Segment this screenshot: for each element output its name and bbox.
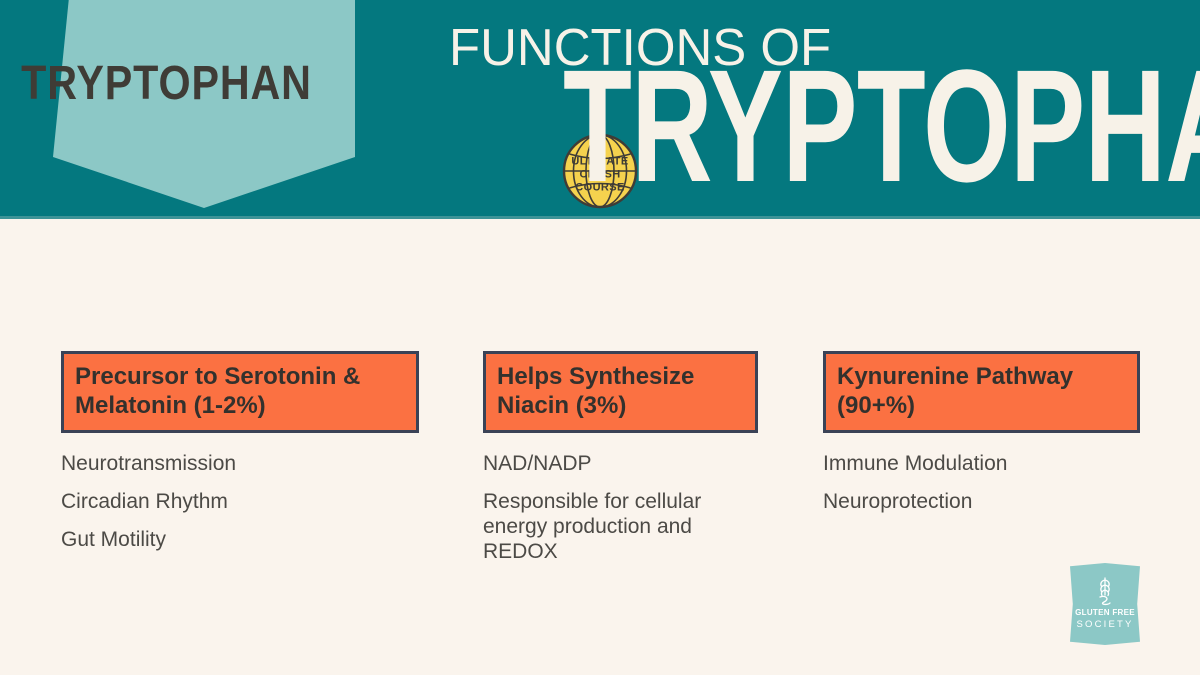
column-precursor-serotonin-melatonin: Precursor to Serotonin & Melatonin (1-2%…	[61, 351, 419, 565]
page-title: TRYPTOPHAN	[563, 46, 1200, 206]
list-item: Circadian Rhythm	[61, 489, 419, 514]
column-heading-chip: Kynurenine Pathway (90+%)	[823, 351, 1140, 433]
badge-title: TRYPTOPHAN	[21, 56, 281, 111]
column-bullet-list: Neurotransmission Circadian Rhythm Gut M…	[61, 451, 419, 552]
column-bullet-list: NAD/NADP Responsible for cellular energy…	[483, 451, 758, 564]
list-item: NAD/NADP	[483, 451, 758, 476]
gluten-free-society-logo: GLUTEN FREE SOCIETY	[1070, 563, 1140, 645]
header-divider-rule	[0, 216, 1200, 219]
slide-root: TRYPTOPHAN ULTIMATE CRASH COURSE FUNCTIO…	[0, 0, 1200, 675]
list-item: Responsible for cellular energy producti…	[483, 489, 758, 564]
logo-line-1: GLUTEN FREE	[1070, 608, 1140, 617]
column-bullet-list: Immune Modulation Neuroprotection	[823, 451, 1140, 514]
column-helps-synthesize-niacin: Helps Synthesize Niacin (3%) NAD/NADP Re…	[483, 351, 758, 577]
column-kynurenine-pathway: Kynurenine Pathway (90+%) Immune Modulat…	[823, 351, 1140, 527]
list-item: Neuroprotection	[823, 489, 1140, 514]
list-item: Neurotransmission	[61, 451, 419, 476]
column-heading-chip: Precursor to Serotonin & Melatonin (1-2%…	[61, 351, 419, 433]
list-item: Immune Modulation	[823, 451, 1140, 476]
logo-line-2: SOCIETY	[1070, 619, 1140, 630]
column-heading-chip: Helps Synthesize Niacin (3%)	[483, 351, 758, 433]
wheat-stalk-icon	[1092, 575, 1118, 607]
list-item: Gut Motility	[61, 527, 419, 552]
